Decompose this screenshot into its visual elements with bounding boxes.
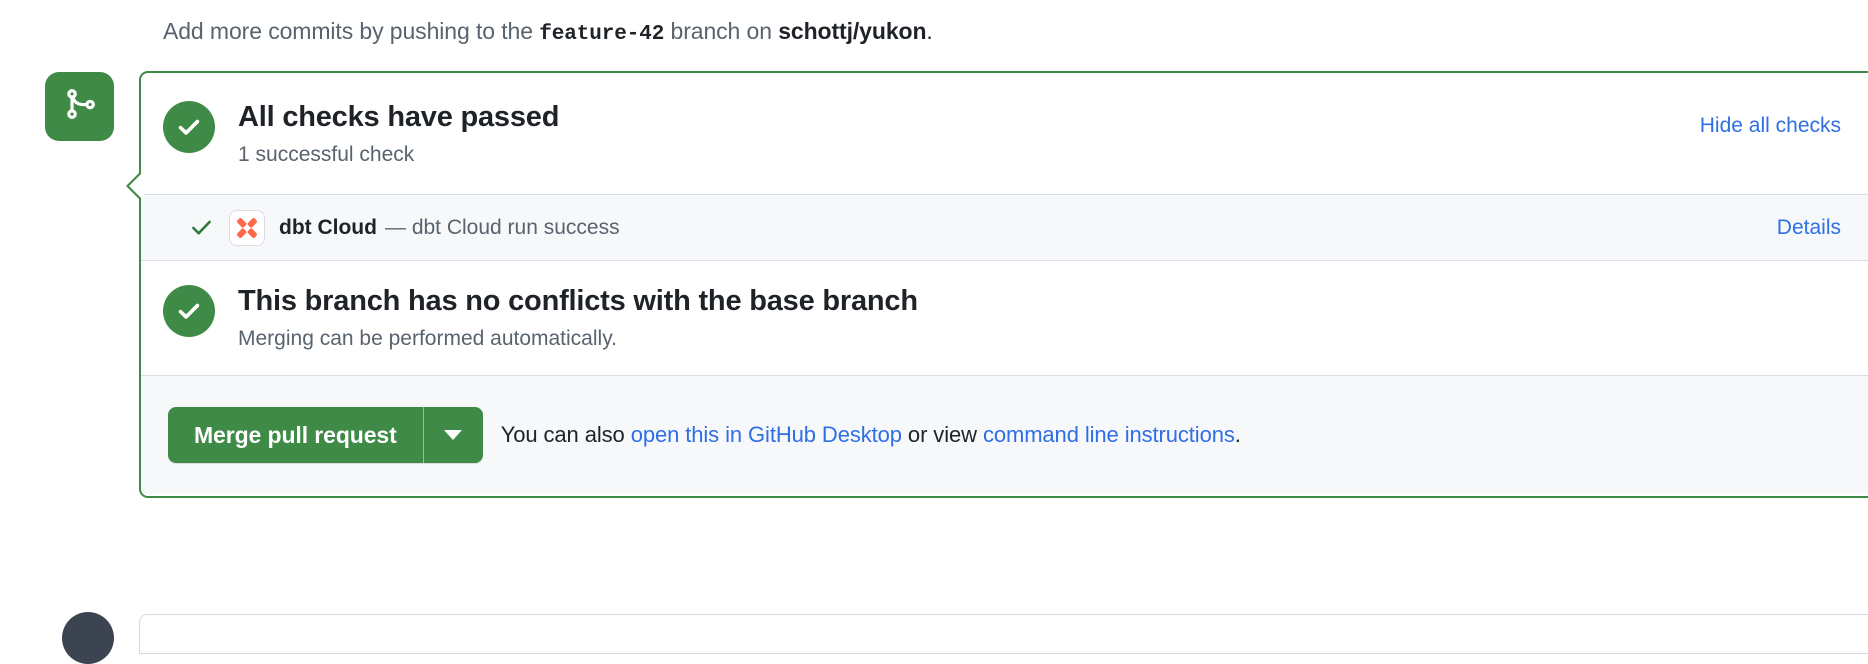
conflicts-title: This branch has no conflicts with the ba…: [238, 283, 1844, 319]
chevron-down-icon: [444, 430, 462, 440]
merge-status-box: All checks have passed 1 successful chec…: [139, 71, 1868, 498]
merge-button-group[interactable]: Merge pull request: [168, 407, 483, 463]
dbt-logo-icon: [229, 210, 265, 246]
check-details-link[interactable]: Details: [1777, 216, 1841, 240]
table-row[interactable]: dbt Cloud — dbt Cloud run success Detail…: [141, 194, 1868, 261]
git-merge-icon: [63, 87, 97, 126]
repository-name: schottj/yukon: [778, 18, 926, 44]
check-circle-icon: [163, 101, 215, 153]
merge-help-text: You can also open this in GitHub Desktop…: [501, 422, 1241, 448]
checks-summary-header: All checks have passed 1 successful chec…: [141, 73, 1868, 194]
conflicts-subtitle: Merging can be performed automatically.: [238, 324, 1844, 354]
push-more-commits-notice: Add more commits by pushing to the featu…: [163, 16, 933, 50]
open-in-github-desktop-link[interactable]: open this in GitHub Desktop: [631, 422, 902, 447]
branch-name: feature-42: [539, 23, 664, 46]
git-merge-badge: [45, 72, 114, 141]
avatar[interactable]: [62, 612, 114, 664]
notice-prefix: Add more commits by pushing to the: [163, 18, 539, 44]
command-line-instructions-link[interactable]: command line instructions: [983, 422, 1235, 447]
hide-all-checks-link[interactable]: Hide all checks: [1700, 111, 1841, 141]
notice-middle: branch on: [664, 18, 778, 44]
next-comment-box: [139, 614, 1868, 654]
merge-pull-request-button[interactable]: Merge pull request: [168, 407, 423, 463]
check-circle-icon: [163, 285, 215, 337]
merge-conflicts-status: This branch has no conflicts with the ba…: [141, 261, 1868, 376]
check-context-name: dbt Cloud: [279, 216, 377, 240]
checks-status-title: All checks have passed: [238, 99, 1700, 135]
merge-action-footer: Merge pull request You can also open thi…: [141, 376, 1868, 494]
check-description: — dbt Cloud run success: [385, 216, 620, 240]
check-icon: [189, 215, 214, 240]
checks-status-subtitle: 1 successful check: [238, 140, 1700, 170]
notice-suffix: .: [926, 18, 932, 44]
help-suffix: .: [1235, 422, 1241, 447]
help-prefix: You can also: [501, 422, 631, 447]
help-middle: or view: [902, 422, 983, 447]
merge-options-dropdown-button[interactable]: [423, 407, 483, 463]
